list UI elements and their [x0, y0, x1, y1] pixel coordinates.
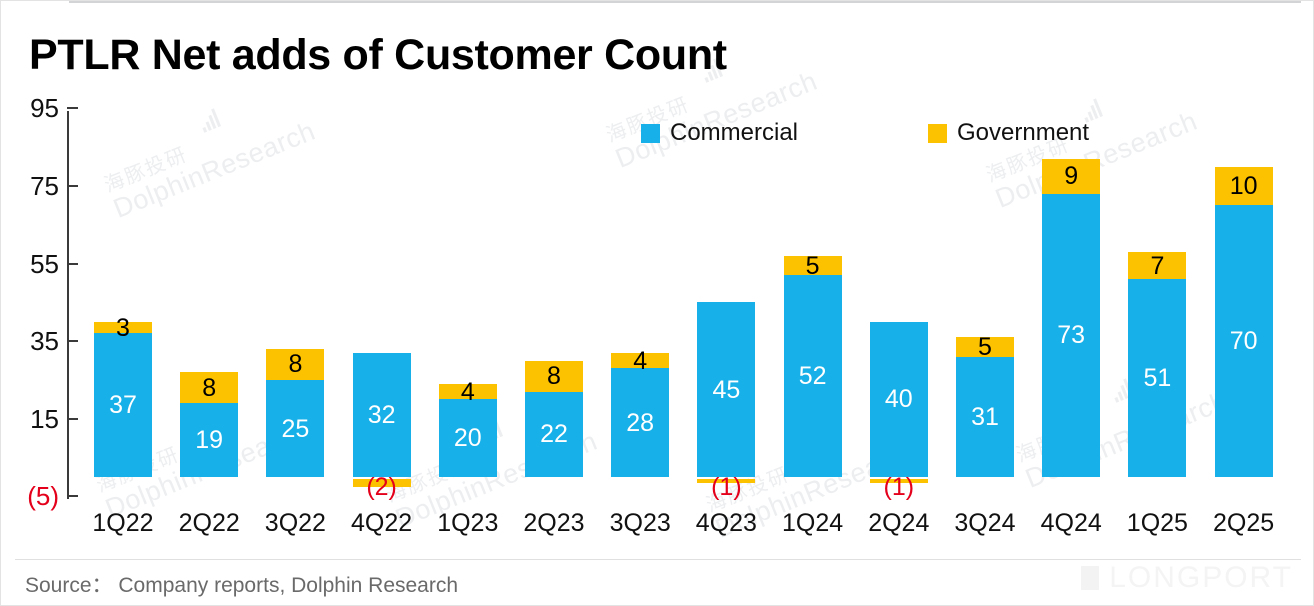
bar-value-commercial: 51	[1128, 366, 1186, 391]
x-axis-label: 1Q23	[422, 509, 514, 538]
bar-value-government: 5	[956, 335, 1014, 360]
bar-value-commercial: 25	[266, 417, 324, 442]
bar-value-government: 8	[525, 364, 583, 389]
bar-value-government: 10	[1215, 174, 1273, 199]
x-axis-label: 1Q25	[1111, 509, 1203, 538]
bar-value-commercial: 22	[525, 422, 583, 447]
bar-value-commercial: 45	[697, 378, 755, 403]
bar-value-government: 5	[784, 254, 842, 279]
chart-title: PTLR Net adds of Customer Count	[29, 31, 727, 80]
x-axis-label: 3Q24	[939, 509, 1031, 538]
legend-swatch-government	[928, 124, 947, 143]
x-axis-label: 2Q25	[1198, 509, 1290, 538]
bar-value-government: 8	[180, 376, 238, 401]
bar-value-commercial: 28	[611, 411, 669, 436]
x-axis-label: 1Q24	[767, 509, 859, 538]
bar-value-commercial: 70	[1215, 329, 1273, 354]
bar-value-government: 4	[611, 349, 669, 374]
plot-area: 9575553515(5) 37319825832(2)20422828445(…	[1, 1, 1314, 606]
bar-value-commercial: 20	[439, 426, 497, 451]
source-note: Source： Company reports, Dolphin Researc…	[25, 569, 458, 599]
x-axis-label: 1Q22	[77, 509, 169, 538]
x-axis-label: 2Q22	[163, 509, 255, 538]
legend-item-commercial[interactable]: Commercial	[641, 119, 798, 147]
x-axis-label: 2Q23	[508, 509, 600, 538]
x-axis-label: 3Q23	[594, 509, 686, 538]
bar-value-commercial: 37	[94, 393, 152, 418]
bar-value-commercial: 31	[956, 405, 1014, 430]
legend-swatch-commercial	[641, 124, 660, 143]
bar-value-commercial: 73	[1042, 323, 1100, 348]
bar-value-commercial: 40	[870, 387, 928, 412]
bar-value-government: (1)	[697, 475, 755, 500]
bar-value-government: 7	[1128, 254, 1186, 279]
bar-value-commercial: 32	[353, 403, 411, 428]
x-axis-label: 3Q22	[249, 509, 341, 538]
legend-label-commercial: Commercial	[670, 119, 798, 147]
x-axis-label: 4Q23	[680, 509, 772, 538]
bar-value-government: (1)	[870, 475, 928, 500]
legend-item-government[interactable]: Government	[928, 119, 1089, 147]
bar-value-commercial: 52	[784, 364, 842, 389]
bar-value-government: (2)	[353, 475, 411, 500]
bar-value-commercial: 19	[180, 428, 238, 453]
x-axis-label: 2Q24	[853, 509, 945, 538]
x-axis-label: 4Q22	[336, 509, 428, 538]
legend-label-government: Government	[957, 119, 1089, 147]
bar-value-government: 4	[439, 380, 497, 405]
bar-value-government: 9	[1042, 164, 1100, 189]
x-axis-label: 4Q24	[1025, 509, 1117, 538]
chart-legend: Commercial Government	[641, 119, 1089, 147]
bar-value-government: 3	[94, 316, 152, 341]
chart-page: 海豚投研 DolphinResearch 海豚投研 DolphinResearc…	[0, 0, 1314, 606]
bar-value-government: 8	[266, 352, 324, 377]
